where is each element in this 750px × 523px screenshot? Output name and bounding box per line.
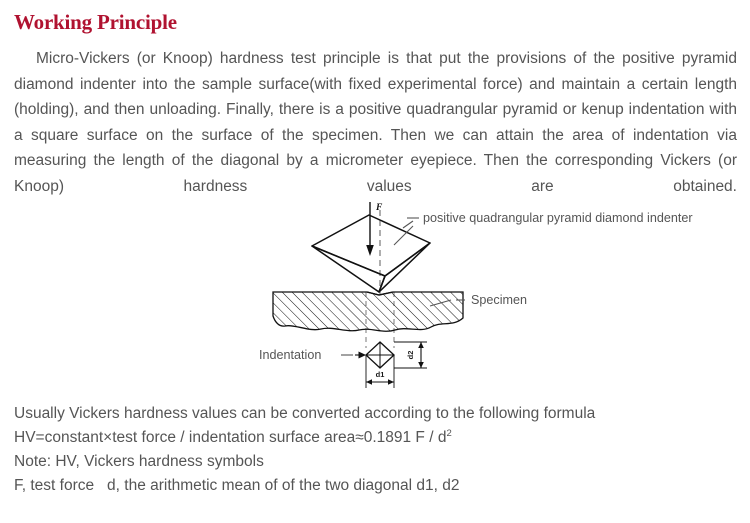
notes-block: Usually Vickers hardness values can be c… <box>14 402 740 498</box>
indentation-callout-group: Indentation <box>259 348 366 362</box>
d2-label: d2 <box>406 351 415 360</box>
d1-label: d1 <box>376 370 385 379</box>
pyramid-left-face <box>312 246 385 292</box>
notes-line-formula-intro: Usually Vickers hardness values can be c… <box>14 402 740 426</box>
d2-arrowhead-top <box>418 342 424 348</box>
indentation-leader-arrowhead <box>359 352 367 359</box>
pyramid-right-face <box>379 243 430 292</box>
indentation-label: Indentation <box>259 348 321 362</box>
indenter-label: positive quadrangular pyramid diamond in… <box>423 211 693 225</box>
indenter-leader-line <box>394 226 413 245</box>
d2-arrowhead-bottom <box>418 362 424 368</box>
d1-arrowhead-left <box>366 379 372 385</box>
force-arrow-head <box>366 245 374 256</box>
notes-line-hv-definition: Note: HV, Vickers hardness symbols <box>14 450 740 474</box>
formula-text: HV=constant×test force / indentation sur… <box>14 429 446 446</box>
diagram-svg: F <box>255 196 745 396</box>
working-principle-diagram: F <box>255 196 745 396</box>
formula-superscript: 2 <box>446 428 451 439</box>
dimension-d2-group: d2 <box>394 342 427 368</box>
specimen-group <box>273 290 465 336</box>
page-title: Working Principle <box>14 10 177 35</box>
notes-line-formula: HV=constant×test force / indentation sur… <box>14 426 740 450</box>
d1-arrowhead-right <box>388 379 394 385</box>
indenter-callout-group: positive quadrangular pyramid diamond in… <box>394 211 693 245</box>
indentation-group <box>366 342 394 368</box>
force-arrow-group: F <box>366 202 383 256</box>
specimen-label: Specimen <box>471 293 527 307</box>
force-label: F <box>375 203 383 213</box>
notes-line-symbol-definitions: F, test force d, the arithmetic mean of … <box>14 474 740 498</box>
